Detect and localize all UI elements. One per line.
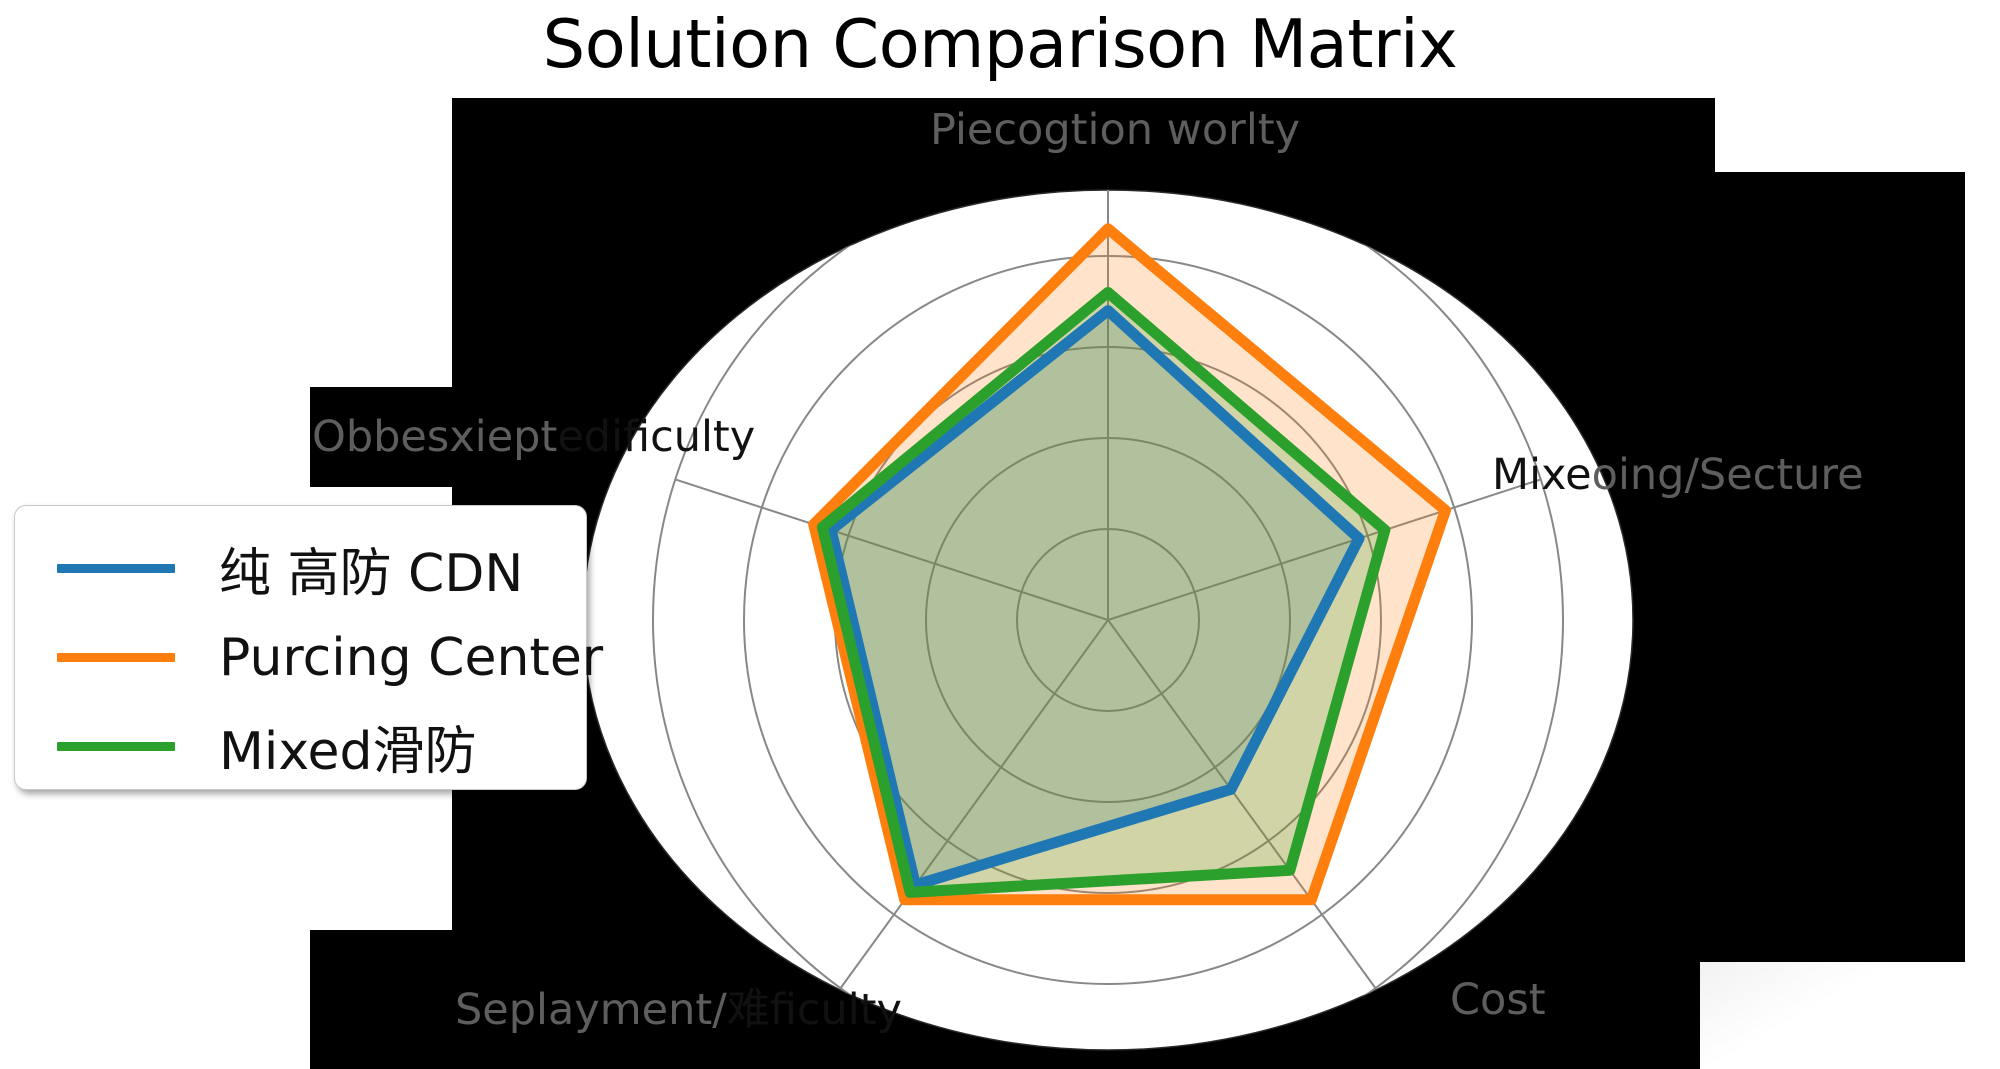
axis-label-bottom-left-ghost-a: Seplayment/	[455, 985, 727, 1035]
axis-label-bottom-right: Cost	[1450, 975, 1546, 1025]
axis-label-left: Obbesxieptedificulty	[312, 412, 755, 462]
legend-swatch-orange	[57, 653, 175, 662]
axis-label-bottom-left-ghost-b: 难ficulty	[727, 985, 902, 1035]
legend[interactable]: 纯 高防 CDN Purcing Center Mixed滑防	[14, 505, 587, 790]
page-title: Solution Comparison Matrix	[0, 8, 2000, 82]
legend-item[interactable]: 纯 高防 CDN	[15, 524, 586, 613]
axis-label-right-ghost-b: oing/Secture	[1592, 450, 1864, 500]
legend-item[interactable]: Purcing Center	[15, 613, 586, 702]
legend-label: Purcing Center	[219, 628, 603, 688]
legend-swatch-green	[57, 742, 175, 751]
axis-label-bottom-left: Seplayment/难ficulty	[455, 975, 902, 1037]
axis-label-top: Piecogtion worlty	[930, 105, 1300, 155]
axis-label-right: Mixeoing/Secture	[1492, 450, 1864, 500]
axis-label-right-ghost-a: Mixe	[1492, 450, 1592, 500]
axis-label-left-ghost-a: Obbesxiept	[312, 412, 557, 462]
legend-label: Mixed滑防	[219, 709, 477, 784]
legend-item[interactable]: Mixed滑防	[15, 702, 586, 791]
axis-label-left-ghost-b: edificulty	[557, 412, 755, 462]
legend-swatch-blue	[57, 564, 175, 573]
screenshot-stage: Solution Comparison Matrix Piecogtion wo…	[0, 0, 2000, 1069]
legend-label: 纯 高防 CDN	[219, 531, 523, 606]
